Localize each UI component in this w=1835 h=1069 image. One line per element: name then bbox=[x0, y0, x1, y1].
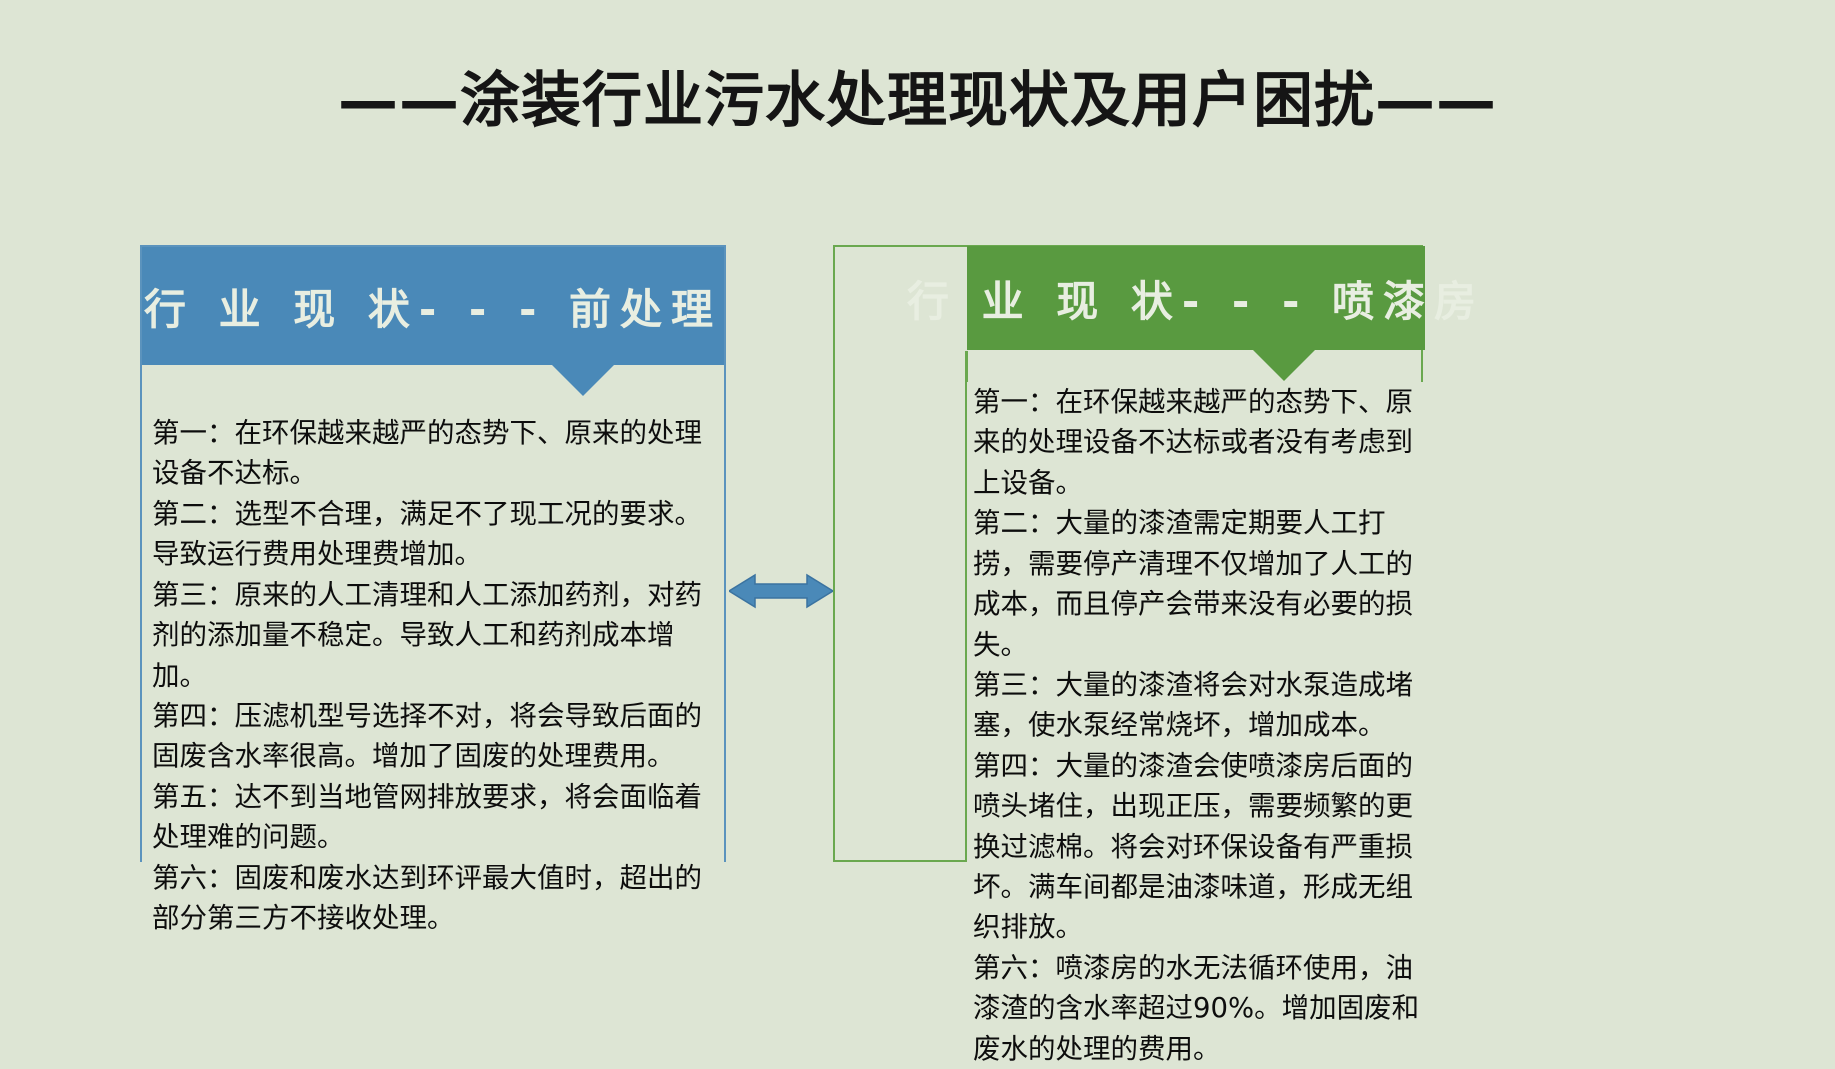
list-item: 第一：在环保越来越严的态势下、原来的处理设备不达标。 bbox=[152, 413, 710, 494]
panel-spray-booth-body: 第一：在环保越来越严的态势下、原来的处理设备不达标或者没有考虑到上设备。 第二：… bbox=[967, 382, 1425, 1069]
panel-pretreatment-header-label: 行 业 现 状- - - 前处理 bbox=[144, 276, 722, 337]
panel-pretreatment-header: 行 业 现 状- - - 前处理 bbox=[142, 247, 724, 365]
list-item: 第二：大量的漆渣需定期要人工打捞，需要停产清理不仅增加了人工的成本，而且停产会带… bbox=[973, 503, 1421, 665]
title-container: ——涂装行业污水处理现状及用户困扰—— bbox=[0, 68, 1835, 134]
list-item: 第四：大量的漆渣会使喷漆房后面的喷头堵住，出现正压，需要频繁的更换过滤棉。将会对… bbox=[973, 746, 1421, 948]
list-item: 第六：喷漆房的水无法循环使用，油漆渣的含水率超过90%。增加固废和废水的处理的费… bbox=[973, 948, 1421, 1069]
panel-pretreatment: 行 业 现 状- - - 前处理 第一：在环保越来越严的态势下、原来的处理设备不… bbox=[140, 245, 726, 862]
panel-pretreatment-body: 第一：在环保越来越严的态势下、原来的处理设备不达标。 第二：选型不合理，满足不了… bbox=[142, 365, 724, 938]
list-item: 第四：压滤机型号选择不对，将会导致后面的固废含水率很高。增加了固废的处理费用。 bbox=[152, 696, 710, 777]
list-item: 第二：选型不合理，满足不了现工况的要求。导致运行费用处理费增加。 bbox=[152, 494, 710, 575]
list-item: 第六：固废和废水达到环评最大值时，超出的部分第三方不接收处理。 bbox=[152, 858, 710, 939]
panel-spray-booth: 行 业 现 状- - - 喷漆房 第一：在环保越来越严的态势下、原来的处理设备不… bbox=[833, 245, 1423, 862]
header-notch-icon bbox=[552, 365, 614, 396]
list-item: 第一：在环保越来越严的态势下、原来的处理设备不达标或者没有考虑到上设备。 bbox=[973, 382, 1421, 503]
list-item: 第五：达不到当地管网排放要求，将会面临着处理难的问题。 bbox=[152, 777, 710, 858]
double-arrow-horizontal-icon bbox=[729, 572, 833, 610]
panel-spray-booth-header-label: 行 业 现 状- - - 喷漆房 bbox=[907, 268, 1485, 329]
panel-spray-booth-header: 行 业 现 状- - - 喷漆房 bbox=[967, 246, 1425, 350]
header-notch-icon bbox=[1253, 350, 1315, 381]
page-title: ——涂装行业污水处理现状及用户困扰—— bbox=[338, 68, 1497, 134]
list-item: 第三：原来的人工清理和人工添加药剂，对药剂的添加量不稳定。导致人工和药剂成本增加… bbox=[152, 575, 710, 696]
list-item: 第三：大量的漆渣将会对水泵造成堵塞，使水泵经常烧坏，增加成本。 bbox=[973, 665, 1421, 746]
